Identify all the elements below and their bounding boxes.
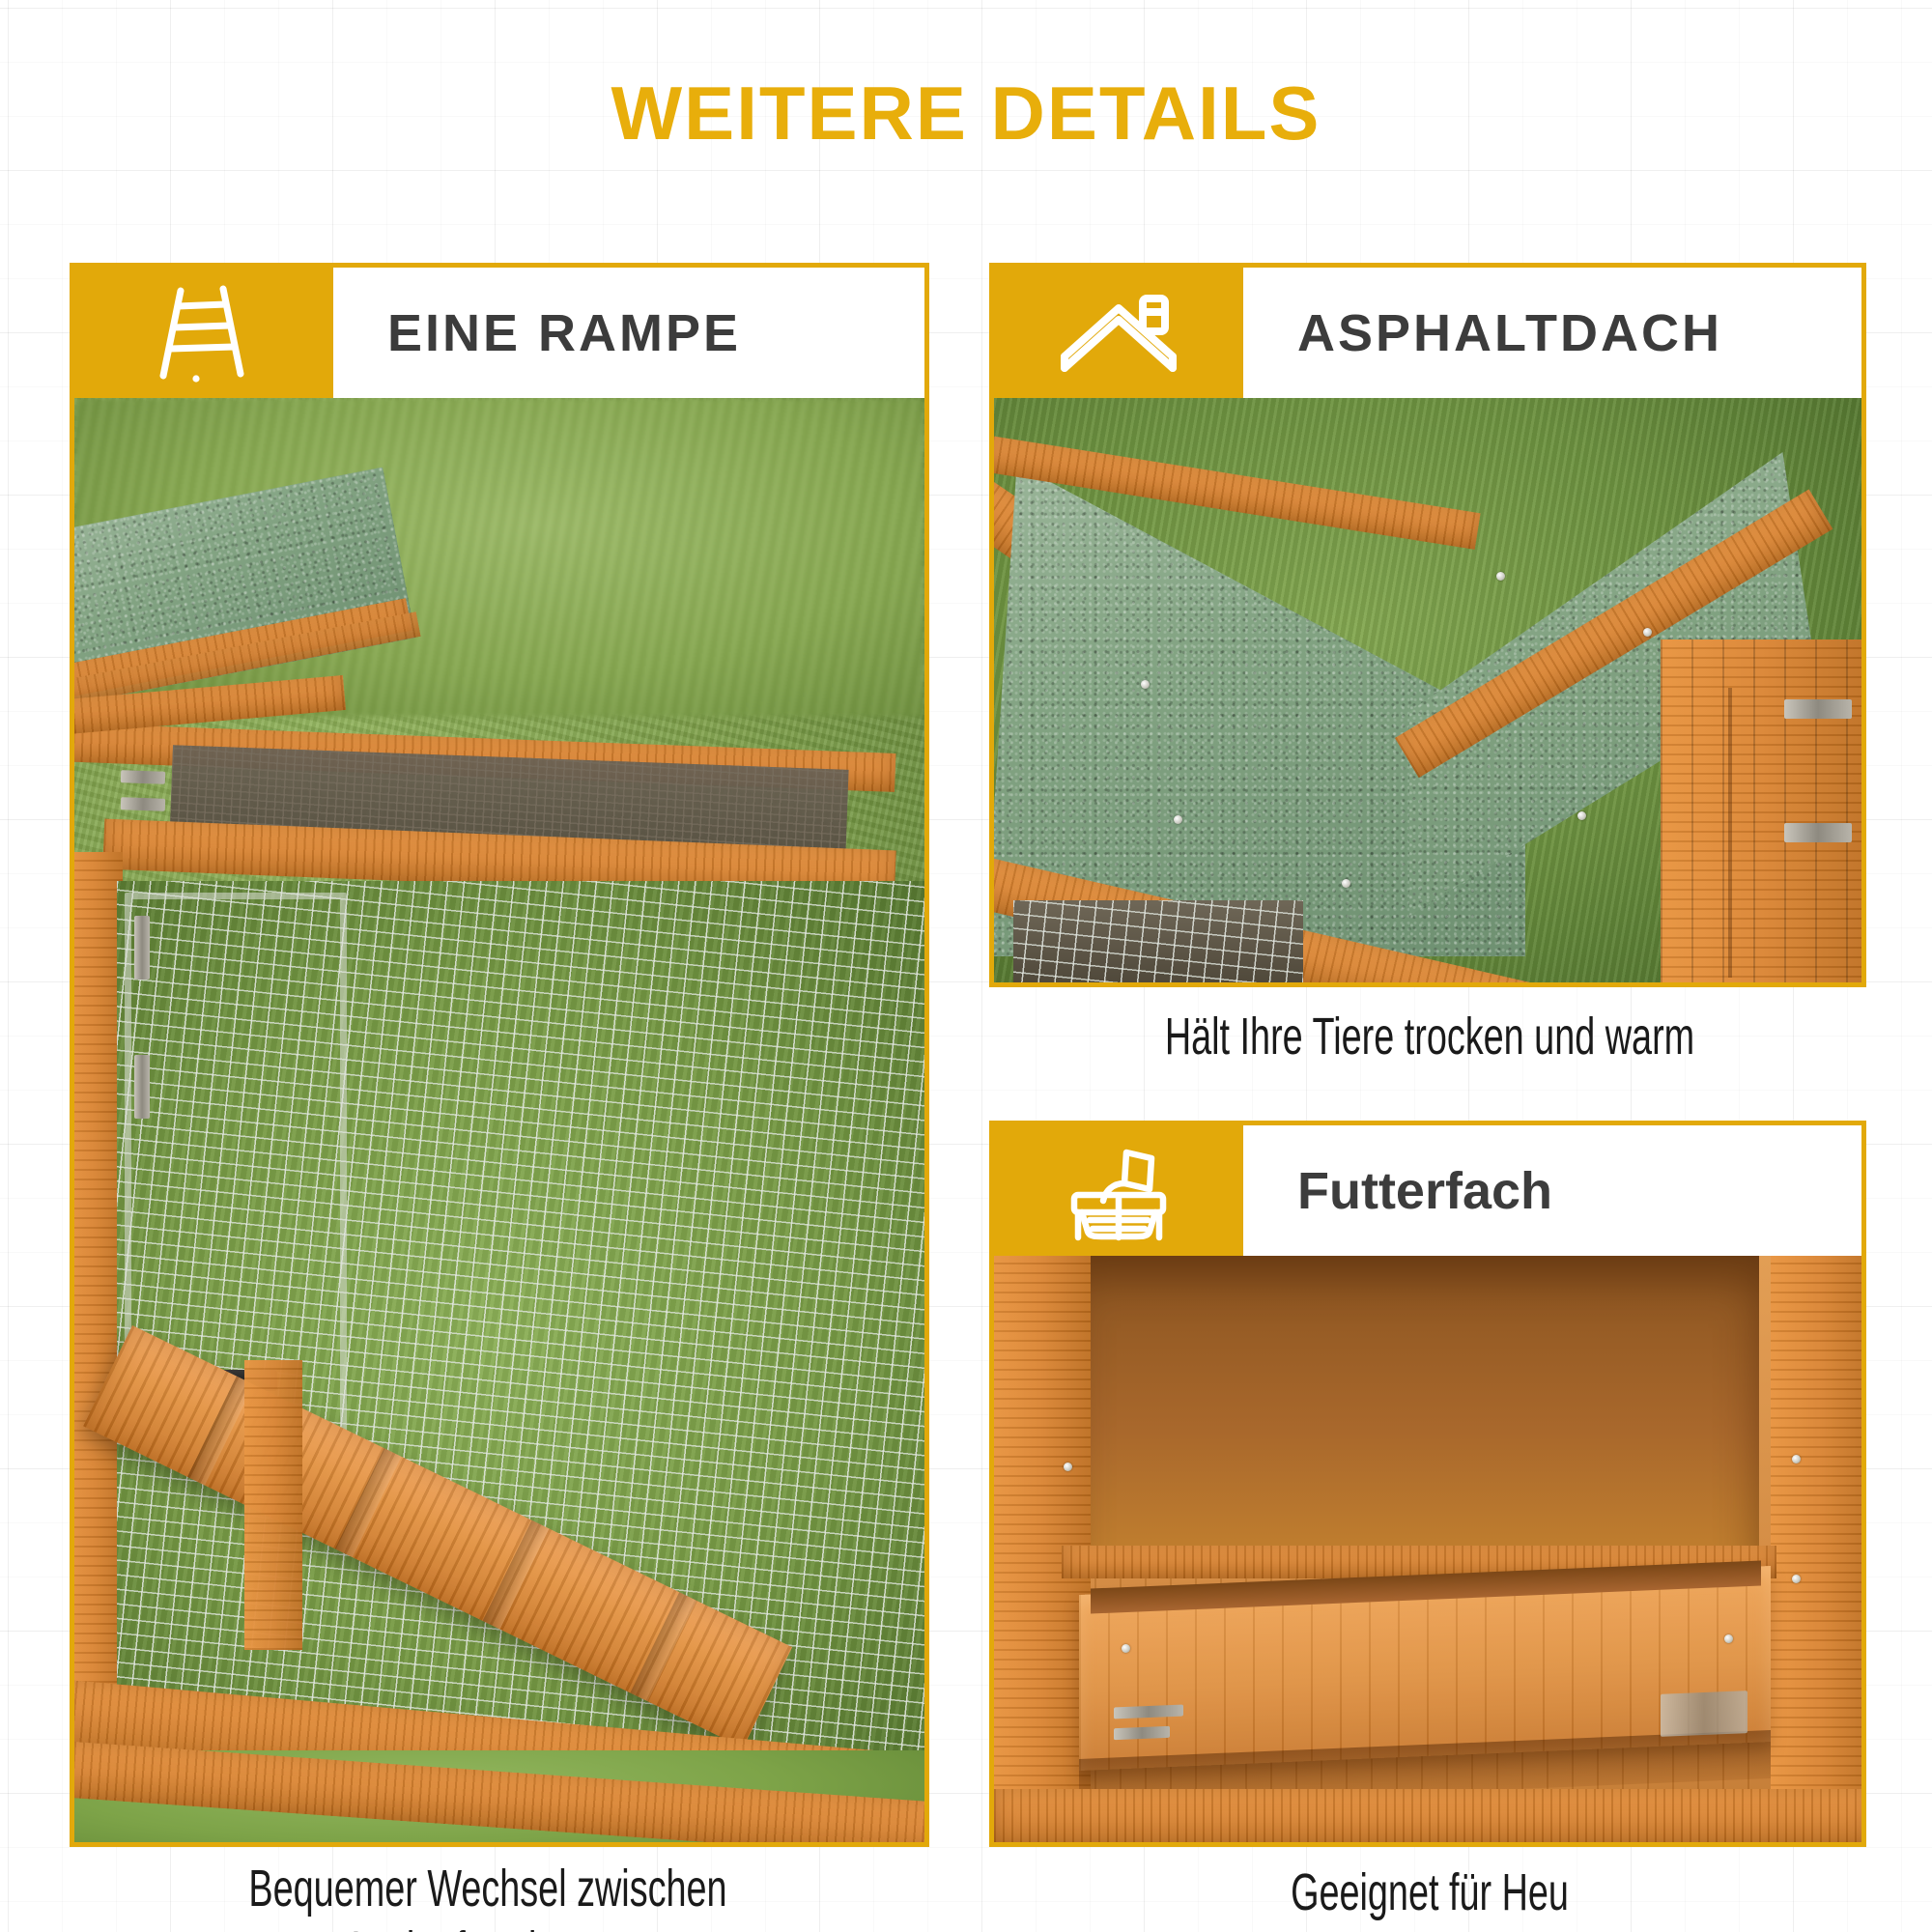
card-ramp-header: EINE RAMPE bbox=[74, 268, 924, 398]
feeder-bracket bbox=[1114, 1726, 1170, 1740]
card-roof: ASPHALTDACH bbox=[989, 263, 1866, 987]
card-feeder-caption: Geeignet für Heu bbox=[956, 1862, 1903, 1924]
card-feeder-title-area: Futterfach bbox=[1243, 1125, 1861, 1256]
roof-icon bbox=[994, 268, 1243, 398]
card-feeder-header: Futterfach bbox=[994, 1125, 1861, 1256]
page-title: WEITERE DETAILS bbox=[0, 70, 1932, 157]
card-roof-title-area: ASPHALTDACH bbox=[1243, 268, 1861, 398]
card-ramp-photo bbox=[74, 398, 924, 1844]
hay-feeder-icon bbox=[994, 1125, 1243, 1256]
card-ramp-title-area: EINE RAMPE bbox=[333, 268, 924, 398]
card-feeder-photo bbox=[994, 1256, 1861, 1844]
door-hinge bbox=[1784, 823, 1852, 842]
card-roof-header: ASPHALTDACH bbox=[994, 268, 1861, 398]
infographic-page: WEITERE DETAILS EINE RAMPE bbox=[0, 0, 1932, 1932]
card-roof-title: ASPHALTDACH bbox=[1297, 307, 1722, 359]
card-ramp-caption: Bequemer Wechsel zwischen Auslauf und Ha… bbox=[12, 1859, 965, 1932]
card-roof-caption: Hält Ihre Tiere trocken und warm bbox=[956, 1007, 1903, 1068]
feeder-bracket bbox=[1661, 1690, 1747, 1737]
card-ramp-title: EINE RAMPE bbox=[387, 307, 741, 359]
door-hinge bbox=[1784, 699, 1852, 719]
card-feeder: Futterfach bbox=[989, 1121, 1866, 1847]
card-roof-photo bbox=[994, 398, 1861, 984]
ladder-icon bbox=[74, 268, 333, 398]
card-ramp: EINE RAMPE bbox=[70, 263, 929, 1847]
card-feeder-title: Futterfach bbox=[1297, 1165, 1552, 1217]
